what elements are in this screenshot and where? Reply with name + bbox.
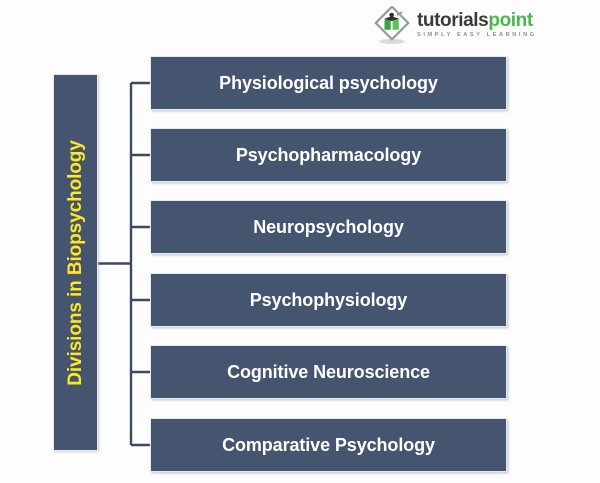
root-node-label: Divisions in Biopsychology [65, 140, 87, 386]
branch-node-label: Cognitive Neuroscience [227, 362, 430, 383]
branch-node-psychophysiology[interactable]: Psychophysiology [150, 273, 507, 327]
branch-node-label: Psychophysiology [250, 290, 407, 311]
logo-tagline: SIMPLY EASY LEARNING [417, 33, 537, 39]
branch-node-cognitive-neuroscience[interactable]: Cognitive Neuroscience [150, 345, 507, 399]
branch-node-neuropsychology[interactable]: Neuropsychology [150, 200, 507, 254]
logo-word-tutorials: tutorials [417, 10, 488, 31]
branch-node-physiological-psychology[interactable]: Physiological psychology [150, 56, 507, 110]
branch-node-label: Physiological psychology [219, 73, 438, 94]
branch-node-label: Neuropsychology [253, 217, 404, 238]
logo-word-point: point [488, 10, 532, 31]
diamond-book-icon [372, 6, 412, 46]
branch-node-label: Psychopharmacology [236, 145, 421, 166]
branch-node-label: Comparative Psychology [222, 435, 435, 456]
branch-node-psychopharmacology[interactable]: Psychopharmacology [150, 128, 507, 182]
root-node-divisions-in-biopsychology[interactable]: Divisions in Biopsychology [53, 74, 98, 451]
tutorialspoint-logo: tutorialspoint SIMPLY EASY LEARNING [372, 6, 532, 46]
branch-node-comparative-psychology[interactable]: Comparative Psychology [150, 418, 507, 472]
logo-wordmark: tutorialspoint [417, 11, 537, 30]
diagram-canvas: tutorialspoint SIMPLY EASY LEARNING Divi… [0, 0, 600, 483]
